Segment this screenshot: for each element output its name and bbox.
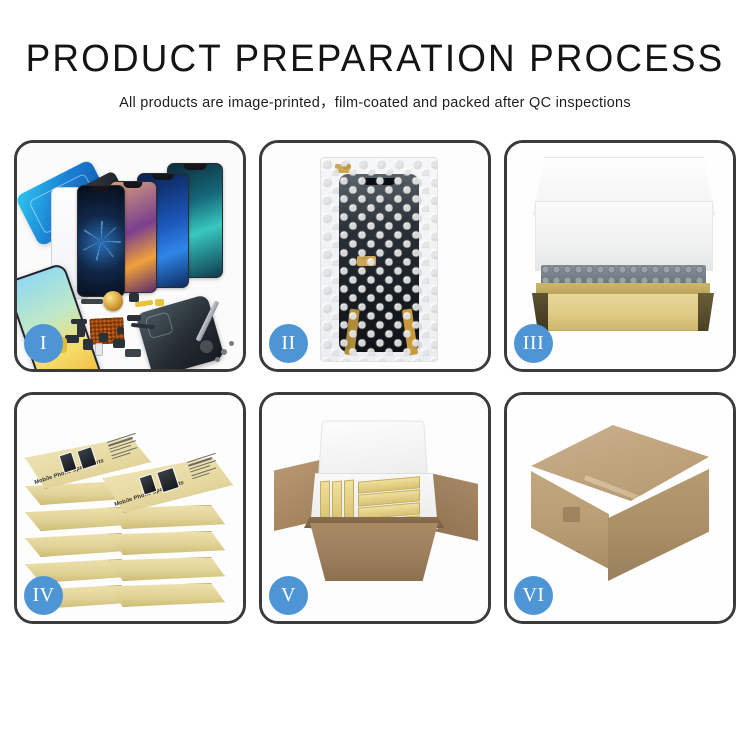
bubble-wrap-package-icon [320,157,438,362]
process-step-panel-2: II [259,140,491,372]
step-badge-4: IV [24,576,63,615]
process-step-panel-3: III [504,140,736,372]
process-step-panel-6: VI [504,392,736,624]
carton-flap-right-icon [430,473,478,541]
speaker-module-icon [103,291,123,311]
retail-box-item [344,479,354,522]
foam-sheet-icon [535,201,713,271]
process-step-panel-4: Mobile Phone Spare Parts Mobile Phone Sp… [14,392,246,624]
shipping-carton-front-icon [310,523,438,581]
step-badge-1: I [24,324,63,363]
process-step-panel-5: V [259,392,491,624]
step-badge-2: II [269,324,308,363]
product-preparation-infographic: PRODUCT PREPARATION PROCESS All products… [0,0,750,750]
page-subtitle: All products are image-printed，film-coat… [0,91,750,112]
page-title: PRODUCT PREPARATION PROCESS [11,40,739,78]
step-badge-5: V [269,576,308,615]
kraft-box-front-icon [532,293,714,331]
phone-dark-icon [77,185,125,297]
foam-lid-icon [318,421,428,478]
step-badge-3: III [514,324,553,363]
process-step-panel-1: I [14,140,246,372]
process-step-grid: I II [14,140,736,624]
step-badge-6: VI [514,576,553,615]
header: PRODUCT PREPARATION PROCESS All products… [0,0,750,112]
